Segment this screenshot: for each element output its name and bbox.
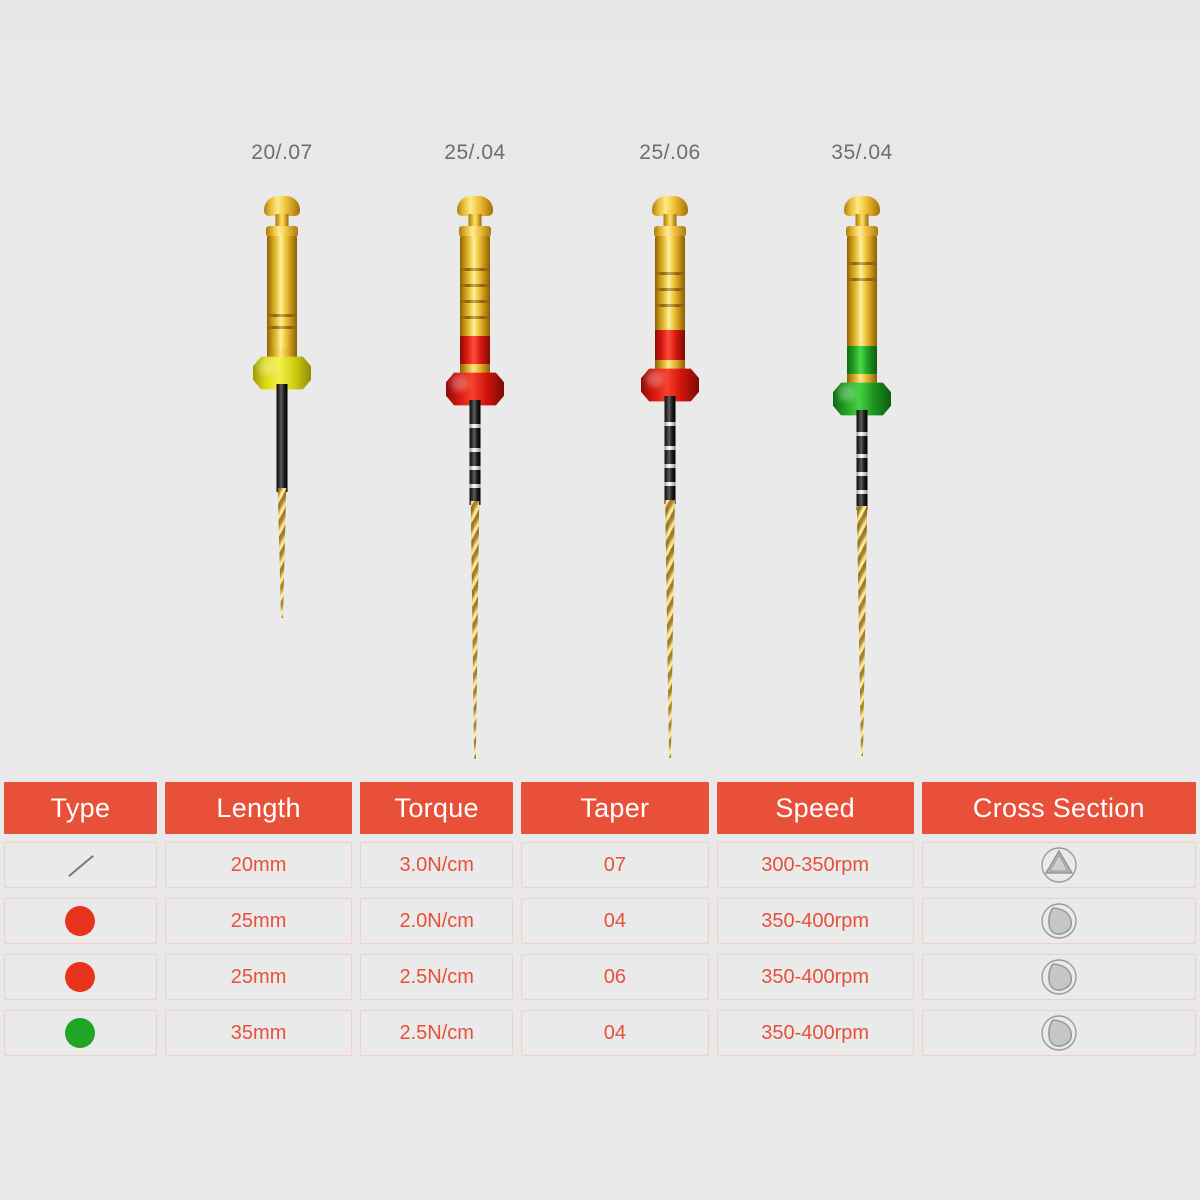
handle-groove bbox=[655, 288, 686, 291]
file-handle bbox=[655, 236, 685, 336]
depth-marker-ring bbox=[665, 482, 676, 486]
cell-type bbox=[4, 842, 157, 888]
table-row: 25mm 2.0N/cm 04 350-400rpm bbox=[0, 894, 1200, 950]
stop-highlight bbox=[451, 375, 468, 390]
file-flute bbox=[663, 500, 678, 758]
depth-marker-ring bbox=[665, 446, 676, 450]
handle-groove bbox=[460, 268, 491, 271]
flute-twist-pattern bbox=[663, 500, 678, 758]
cell-torque: 2.5N/cm bbox=[360, 954, 513, 1000]
depth-marker-ring bbox=[470, 424, 481, 428]
depth-marker-ring bbox=[470, 466, 481, 470]
cell-cross-section bbox=[922, 842, 1196, 888]
file-handle bbox=[460, 236, 490, 341]
handle-groove bbox=[655, 272, 686, 275]
handle-groove bbox=[460, 300, 491, 303]
latch-head-icon bbox=[264, 196, 300, 216]
offset-parabolic-cross-section-icon bbox=[1038, 956, 1080, 998]
color-band-green bbox=[847, 346, 877, 376]
offset-parabolic-cross-section-icon bbox=[1038, 900, 1080, 942]
flute-twist-pattern bbox=[274, 488, 290, 618]
handle-groove bbox=[460, 284, 491, 287]
handle-groove bbox=[267, 326, 298, 329]
color-band-red bbox=[460, 336, 490, 366]
file-shaft bbox=[665, 396, 676, 504]
color-band-red bbox=[655, 330, 685, 362]
cell-taper: 07 bbox=[521, 842, 708, 888]
endo-file-2: 25/.04 bbox=[395, 140, 555, 796]
file-flute bbox=[854, 506, 870, 756]
column-header-cross-section: Cross Section bbox=[922, 782, 1196, 834]
file-artwork-1 bbox=[202, 196, 362, 796]
depth-marker-ring bbox=[857, 432, 868, 436]
file-handle bbox=[267, 236, 297, 361]
column-header-type: Type bbox=[4, 782, 157, 834]
column-header-speed: Speed bbox=[717, 782, 914, 834]
endo-file-1: 20/.07 bbox=[202, 140, 362, 796]
cell-length: 35mm bbox=[165, 1010, 352, 1056]
handle-groove bbox=[655, 304, 686, 307]
slash-icon bbox=[63, 848, 97, 882]
cell-taper: 04 bbox=[521, 1010, 708, 1056]
cell-speed: 350-400rpm bbox=[717, 954, 914, 1000]
cell-speed: 300-350rpm bbox=[717, 842, 914, 888]
cell-torque: 2.0N/cm bbox=[360, 898, 513, 944]
table-row: 25mm 2.5N/cm 06 350-400rpm bbox=[0, 950, 1200, 1006]
file-shaft bbox=[277, 384, 288, 492]
latch-head-icon bbox=[844, 196, 880, 216]
table-row: 35mm 2.5N/cm 04 350-400rpm bbox=[0, 1006, 1200, 1062]
depth-marker-ring bbox=[665, 464, 676, 468]
file-handle bbox=[847, 236, 877, 351]
cell-speed: 350-400rpm bbox=[717, 1010, 914, 1056]
depth-marker-ring bbox=[857, 472, 868, 476]
depth-marker-ring bbox=[857, 454, 868, 458]
file-artwork-3 bbox=[590, 196, 750, 796]
cell-length: 20mm bbox=[165, 842, 352, 888]
cell-taper: 06 bbox=[521, 954, 708, 1000]
cell-length: 25mm bbox=[165, 898, 352, 944]
handle-groove bbox=[847, 262, 878, 265]
cell-cross-section bbox=[922, 954, 1196, 1000]
file-shaft bbox=[470, 400, 481, 505]
depth-marker-ring bbox=[857, 490, 868, 494]
file-flute bbox=[468, 501, 482, 759]
handle-groove bbox=[267, 314, 298, 317]
handle-groove bbox=[847, 278, 878, 281]
cell-cross-section bbox=[922, 1010, 1196, 1056]
cell-taper: 04 bbox=[521, 898, 708, 944]
product-display-area: 20/.07 25/.04 bbox=[0, 0, 1200, 770]
column-header-torque: Torque bbox=[360, 782, 513, 834]
file-label-1: 20/.07 bbox=[202, 140, 362, 166]
flute-twist-pattern bbox=[468, 501, 482, 759]
table-header-row: Type Length Torque Taper Speed Cross Sec… bbox=[0, 782, 1200, 834]
depth-marker-ring bbox=[470, 484, 481, 488]
cell-type bbox=[4, 898, 157, 944]
dot-icon bbox=[65, 906, 95, 936]
cell-type bbox=[4, 1010, 157, 1056]
handle-groove bbox=[460, 316, 491, 319]
stop-highlight bbox=[258, 359, 275, 374]
cell-torque: 2.5N/cm bbox=[360, 1010, 513, 1056]
offset-parabolic-cross-section-icon bbox=[1038, 1012, 1080, 1054]
stop-highlight bbox=[838, 385, 855, 400]
file-label-3: 25/.06 bbox=[590, 140, 750, 166]
dot-icon bbox=[65, 1018, 95, 1048]
cell-length: 25mm bbox=[165, 954, 352, 1000]
file-label-2: 25/.04 bbox=[395, 140, 555, 166]
file-label-4: 35/.04 bbox=[782, 140, 942, 166]
dot-icon bbox=[65, 962, 95, 992]
file-flute bbox=[274, 488, 290, 618]
triangular-cross-section-icon bbox=[1038, 844, 1080, 886]
latch-head-icon bbox=[652, 196, 688, 216]
column-header-length: Length bbox=[165, 782, 352, 834]
endo-file-4: 35/.04 bbox=[782, 140, 942, 796]
cell-cross-section bbox=[922, 898, 1196, 944]
specification-table: Type Length Torque Taper Speed Cross Sec… bbox=[0, 782, 1200, 1062]
depth-marker-ring bbox=[470, 448, 481, 452]
cell-speed: 350-400rpm bbox=[717, 898, 914, 944]
flute-twist-pattern bbox=[854, 506, 870, 756]
depth-marker-ring bbox=[665, 422, 676, 426]
column-header-taper: Taper bbox=[521, 782, 708, 834]
cell-torque: 3.0N/cm bbox=[360, 842, 513, 888]
endo-file-3: 25/.06 bbox=[590, 140, 750, 796]
cell-type bbox=[4, 954, 157, 1000]
stop-highlight bbox=[646, 371, 663, 386]
latch-head-icon bbox=[457, 196, 493, 216]
table-row: 20mm 3.0N/cm 07 300-350rpm bbox=[0, 838, 1200, 894]
file-shaft bbox=[857, 410, 868, 510]
file-artwork-4 bbox=[782, 196, 942, 796]
file-artwork-2 bbox=[395, 196, 555, 796]
